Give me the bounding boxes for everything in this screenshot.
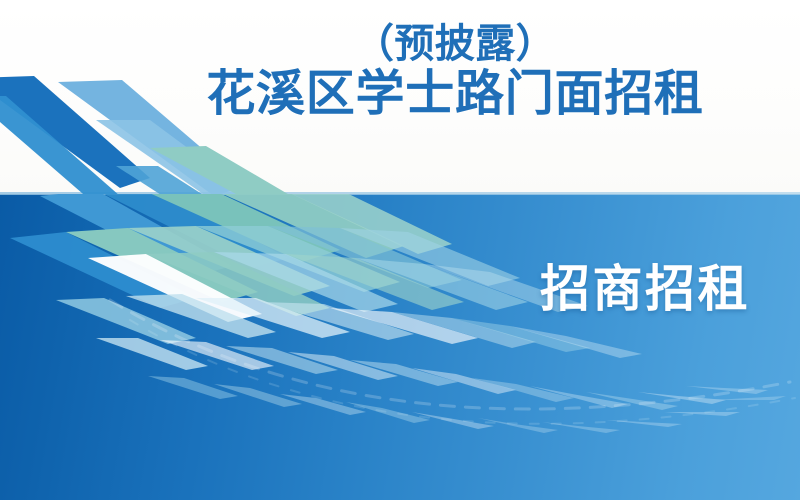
banner-headline: （预披露） 花溪区学士路门面招租 [150,22,760,122]
headline-line-1: （预披露） [150,22,760,66]
promo-banner: （预披露） 花溪区学士路门面招租 招商招租 [0,0,800,500]
background-bottom-band [0,194,800,500]
background-seam-line [0,192,800,195]
headline-line-2: 花溪区学士路门面招租 [150,68,760,122]
banner-slogan: 招商招租 [520,249,770,321]
